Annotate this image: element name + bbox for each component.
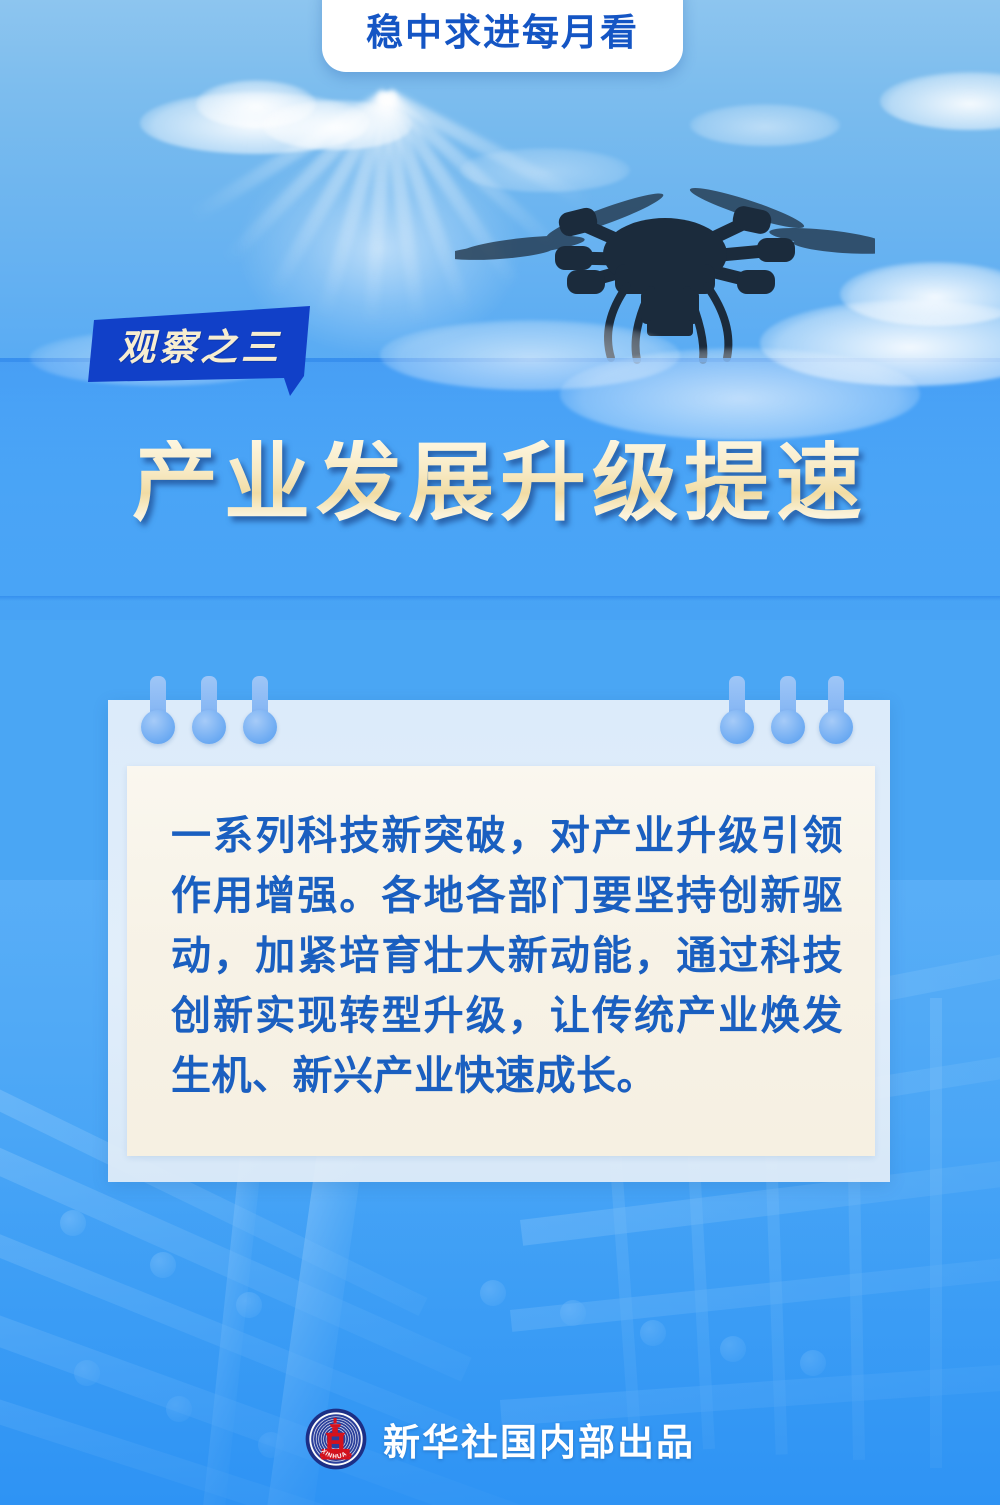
note-card-body: 一系列科技新突破，对产业升级引领作用增强。各地各部门要坚持创新驱动，加紧培育壮大… <box>171 806 843 1106</box>
top-banner-pill: 稳中求进每月看 <box>322 0 683 72</box>
cloud <box>690 104 840 146</box>
poster-root: 稳中求进每月看 观察之三 产业发展升级提速 <box>0 0 1000 1505</box>
section-tag: 观察之三 <box>88 300 318 396</box>
cloud <box>560 348 920 440</box>
page-title: 产业发展升级提速 <box>0 440 1000 526</box>
xinhua-logo-icon: XINHUA <box>305 1408 367 1470</box>
section-tag-label: 观察之三 <box>118 317 282 371</box>
footer-credit: 新华社国内部出品 <box>383 1412 695 1466</box>
note-card-inner-panel: 一系列科技新突破，对产业升级引领作用增强。各地各部门要坚持创新驱动，加紧培育壮大… <box>127 766 875 1156</box>
note-card: 一系列科技新突破，对产业升级引领作用增强。各地各部门要坚持创新驱动，加紧培育壮大… <box>108 700 890 1182</box>
top-banner-label: 稳中求进每月看 <box>366 2 639 72</box>
footer: XINHUA 新华社国内部出品 <box>0 1404 1000 1474</box>
band-bottom-edge <box>0 596 1000 601</box>
cloud <box>262 100 412 150</box>
